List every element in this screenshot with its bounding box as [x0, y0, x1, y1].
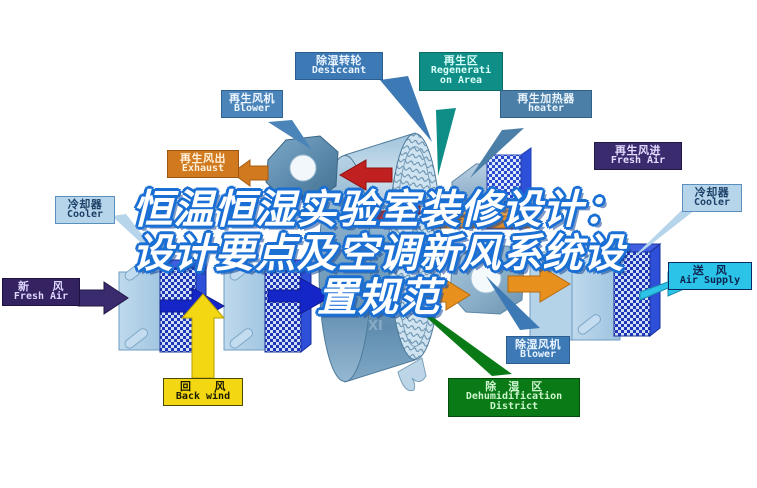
label-desiccant-rotor: 除湿转轮 Desiccant [295, 52, 383, 80]
label-air-supply: 送 风 Air Supply [668, 262, 752, 290]
label-air-supply-en: Air Supply [673, 276, 747, 286]
label-cooler-left-en: Cooler [60, 210, 110, 220]
label-dehumidification-blower: 除湿风机 Blower [506, 336, 570, 364]
label-exhaust-en: Exhaust [172, 164, 234, 174]
label-dehumidification-district-en2: District [453, 402, 575, 412]
label-dehumidification-blower-en: Blower [511, 350, 565, 360]
cooling-coil-mid [224, 259, 311, 352]
label-regeneration-area-en2: on Area [424, 76, 498, 86]
svg-text:XI: XI [368, 319, 383, 334]
label-cooler-left: 冷却器 Cooler [55, 196, 115, 224]
label-back-wind-en: Back wind [168, 392, 238, 402]
label-regeneration-heater-en: heater [505, 104, 587, 114]
label-regeneration-fresh-air-en: Fresh Air [599, 156, 677, 166]
label-regeneration-fresh-air: 再生风进 Fresh Air [594, 142, 682, 170]
label-regeneration-blower-en: Blower [226, 104, 278, 114]
label-regeneration-heater: 再生加热器 heater [500, 90, 592, 118]
label-cooler-right: 冷却器 Cooler [682, 184, 742, 212]
label-regeneration-blower: 再生风机 Blower [221, 90, 283, 118]
label-regeneration-area: 再生区 Regenerati on Area [419, 52, 503, 91]
label-dehumidification-district: 除 湿 区 Dehumidification District [448, 378, 580, 417]
label-desiccant-rotor-en: Desiccant [300, 66, 378, 76]
label-back-wind: 回 风 Back wind [163, 378, 243, 406]
label-exhaust: 再生风出 Exhaust [167, 150, 239, 178]
label-fresh-air-inlet-en: Fresh Air [7, 292, 75, 302]
diagram-canvas: XI [0, 0, 757, 488]
label-fresh-air-inlet: 新 风 Fresh Air [2, 278, 80, 306]
label-cooler-right-en: Cooler [687, 198, 737, 208]
